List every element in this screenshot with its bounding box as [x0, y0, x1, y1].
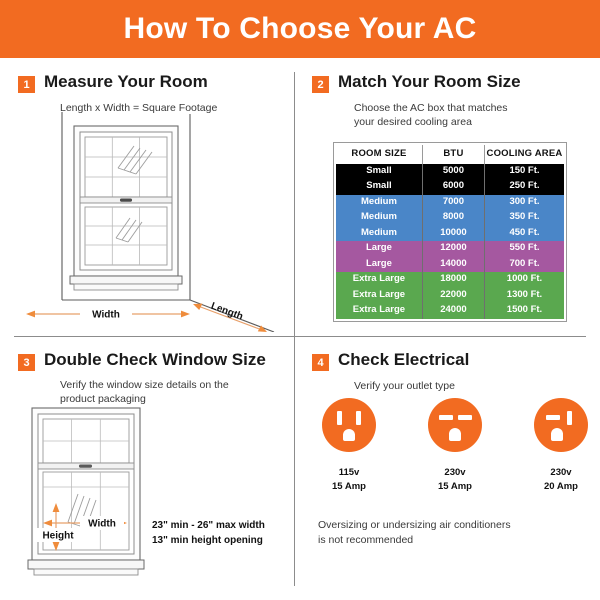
outlet-115v-15amp-icon: [322, 398, 376, 452]
section-3-header: 3 Double Check Window Size: [18, 350, 278, 371]
cell-cooling-area: 1000 Ft.: [484, 272, 565, 288]
cell-room-size: Large: [335, 241, 422, 257]
window-illustration: [70, 126, 182, 290]
section-2-subtitle: Choose the AC box that matches your desi…: [354, 101, 584, 129]
section-1-header: 1 Measure Your Room: [18, 72, 278, 93]
cell-room-size: Medium: [335, 195, 422, 211]
cell-room-size: Medium: [335, 210, 422, 226]
cell-cooling-area: 1300 Ft.: [484, 288, 565, 304]
room-measurement-diagram: Width Length: [12, 110, 284, 332]
cell-btu: 6000: [422, 179, 484, 195]
page-header: How To Choose Your AC: [0, 0, 600, 58]
width-label: Width: [92, 310, 120, 321]
outlet-115v-caption: 115v 15 Amp: [318, 466, 380, 494]
table-header-row: ROOM SIZE BTU COOLING AREA: [335, 144, 565, 164]
table-row: Extra Large240001500 Ft.: [335, 303, 565, 320]
outlet-option-115v: 115v 15 Amp: [318, 398, 380, 494]
sections-grid: 1 Measure Your Room Length x Width = Squ…: [0, 58, 600, 600]
table-row: Extra Large180001000 Ft.: [335, 272, 565, 288]
outlet-230v-20amp-volts: 230v: [530, 466, 592, 480]
length-label: Length: [209, 301, 244, 323]
section-4-badge: 4: [312, 354, 329, 371]
outlet-115v-amps: 15 Amp: [318, 480, 380, 494]
cell-btu: 18000: [422, 272, 484, 288]
outlet-115v-volts: 115v: [318, 466, 380, 480]
cell-room-size: Small: [335, 179, 422, 195]
outlet-230v-15amp-caption: 230v 15 Amp: [424, 466, 486, 494]
cell-btu: 14000: [422, 257, 484, 273]
width-dimension-arrow: Width: [26, 307, 190, 321]
cell-btu: 7000: [422, 195, 484, 211]
outlet-230v-15amp-amps: 15 Amp: [424, 480, 486, 494]
ac-sizing-table: ROOM SIZE BTU COOLING AREA Small5000150 …: [334, 143, 566, 321]
outlet-option-230v-20amp: 230v 20 Amp: [530, 398, 592, 494]
section-4-subtitle: Verify your outlet type: [354, 379, 584, 393]
cell-cooling-area: 700 Ft.: [484, 257, 565, 273]
cell-room-size: Large: [335, 257, 422, 273]
outlet-230v-20amp-caption: 230v 20 Amp: [530, 466, 592, 494]
section-check-electrical: 4 Check Electrical Verify your outlet ty…: [294, 336, 600, 600]
cell-room-size: Extra Large: [335, 303, 422, 320]
section-3-badge: 3: [18, 354, 35, 371]
section-1-title: Measure Your Room: [44, 72, 208, 92]
outlet-230v-15amp-volts: 230v: [424, 466, 486, 480]
window-size-diagram: Width Height: [18, 404, 158, 582]
cell-btu: 10000: [422, 226, 484, 242]
table-row: Medium8000350 Ft.: [335, 210, 565, 226]
section-2-title: Match Your Room Size: [338, 72, 521, 92]
table-row: Small6000250 Ft.: [335, 179, 565, 195]
section-match-your-room-size: 2 Match Your Room Size Choose the AC box…: [294, 58, 600, 336]
cell-btu: 12000: [422, 241, 484, 257]
cell-btu: 8000: [422, 210, 484, 226]
table-row: Medium10000450 Ft.: [335, 226, 565, 242]
cell-cooling-area: 250 Ft.: [484, 179, 565, 195]
cell-room-size: Small: [335, 164, 422, 180]
section-2-header: 2 Match Your Room Size: [312, 72, 584, 93]
section-1-badge: 1: [18, 76, 35, 93]
cell-cooling-area: 150 Ft.: [484, 164, 565, 180]
table-row: Small5000150 Ft.: [335, 164, 565, 180]
cell-cooling-area: 350 Ft.: [484, 210, 565, 226]
cell-room-size: Medium: [335, 226, 422, 242]
cell-room-size: Extra Large: [335, 272, 422, 288]
sizing-disclaimer: Oversizing or undersizing air conditione…: [318, 518, 511, 547]
window-height-note: 13" min height opening: [152, 533, 265, 548]
window-width-note: 23" min - 26" max width: [152, 518, 265, 533]
page-title: How To Choose Your AC: [123, 12, 476, 46]
window-size-note: 23" min - 26" max width 13" min height o…: [152, 518, 265, 548]
cell-btu: 24000: [422, 303, 484, 320]
table-row: Large14000700 Ft.: [335, 257, 565, 273]
cell-cooling-area: 550 Ft.: [484, 241, 565, 257]
section-4-title: Check Electrical: [338, 350, 469, 370]
table-row: Medium7000300 Ft.: [335, 195, 565, 211]
section-2-badge: 2: [312, 76, 329, 93]
section-3-title: Double Check Window Size: [44, 350, 266, 370]
section-double-check-window-size: 3 Double Check Window Size Verify the wi…: [0, 336, 294, 600]
column-header-room-size: ROOM SIZE: [335, 144, 422, 164]
cell-btu: 22000: [422, 288, 484, 304]
table-row: Extra Large220001300 Ft.: [335, 288, 565, 304]
cell-cooling-area: 300 Ft.: [484, 195, 565, 211]
table-row: Large12000550 Ft.: [335, 241, 565, 257]
outlet-230v-15amp-icon: [428, 398, 482, 452]
outlet-230v-20amp-amps: 20 Amp: [530, 480, 592, 494]
section-measure-your-room: 1 Measure Your Room Length x Width = Squ…: [0, 58, 294, 336]
infographic-page: How To Choose Your AC 1 Measure Your Roo…: [0, 0, 600, 600]
window-width-label: Width: [88, 519, 116, 530]
cell-cooling-area: 1500 Ft.: [484, 303, 565, 320]
column-header-cooling-area: COOLING AREA: [484, 144, 565, 164]
window-height-label: Height: [42, 531, 74, 542]
table-body: Small5000150 Ft.Small6000250 Ft.Medium70…: [335, 164, 565, 320]
cell-btu: 5000: [422, 164, 484, 180]
cell-room-size: Extra Large: [335, 288, 422, 304]
cell-cooling-area: 450 Ft.: [484, 226, 565, 242]
section-4-header: 4 Check Electrical: [312, 350, 584, 371]
outlet-230v-20amp-icon: [534, 398, 588, 452]
column-header-btu: BTU: [422, 144, 484, 164]
outlet-types-group: 115v 15 Amp 230v 15 Amp: [318, 398, 592, 494]
section-3-subtitle: Verify the window size details on the pr…: [60, 378, 278, 406]
outlet-option-230v-15amp: 230v 15 Amp: [424, 398, 486, 494]
